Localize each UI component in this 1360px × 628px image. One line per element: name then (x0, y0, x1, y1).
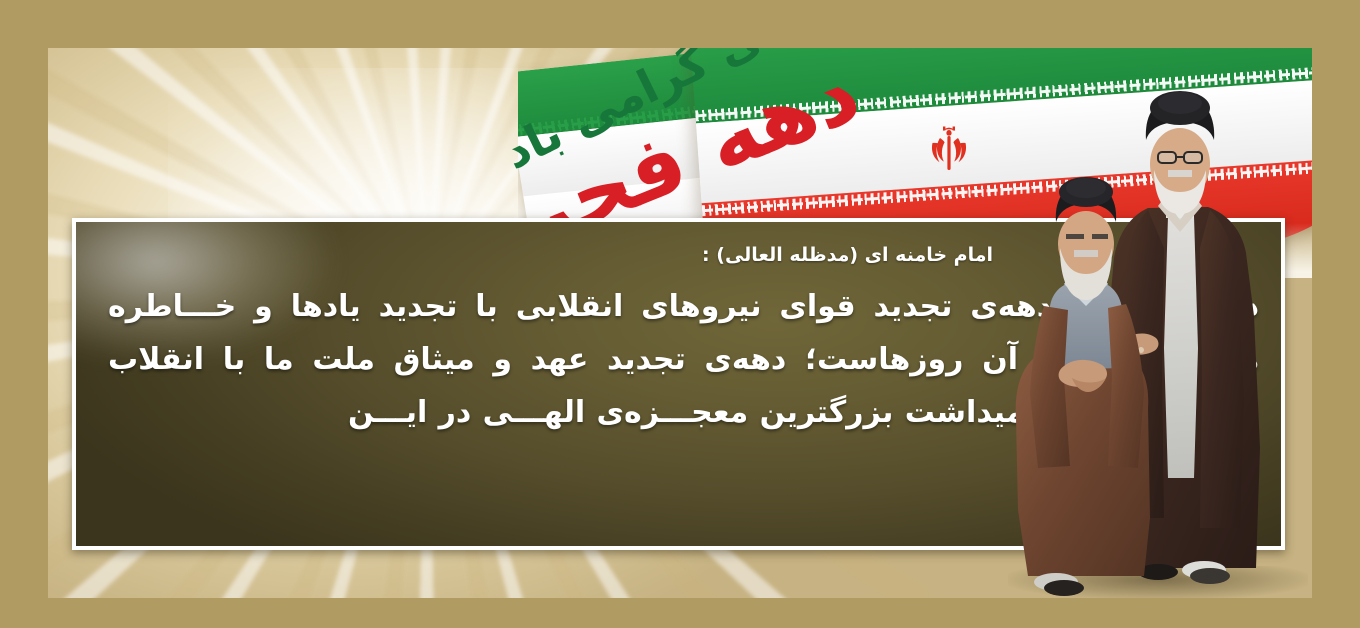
iran-emblem-icon (926, 124, 972, 176)
banner-canvas: انقلاب اسلامی گرامی باد دهه فجر امام خام… (48, 48, 1312, 598)
quote-attribution: امام خامنه ای (مدظله العالی) : (702, 244, 993, 266)
poster-root: انقلاب اسلامی گرامی باد دهه فجر امام خام… (0, 0, 1360, 628)
clerics-photo (998, 48, 1308, 598)
